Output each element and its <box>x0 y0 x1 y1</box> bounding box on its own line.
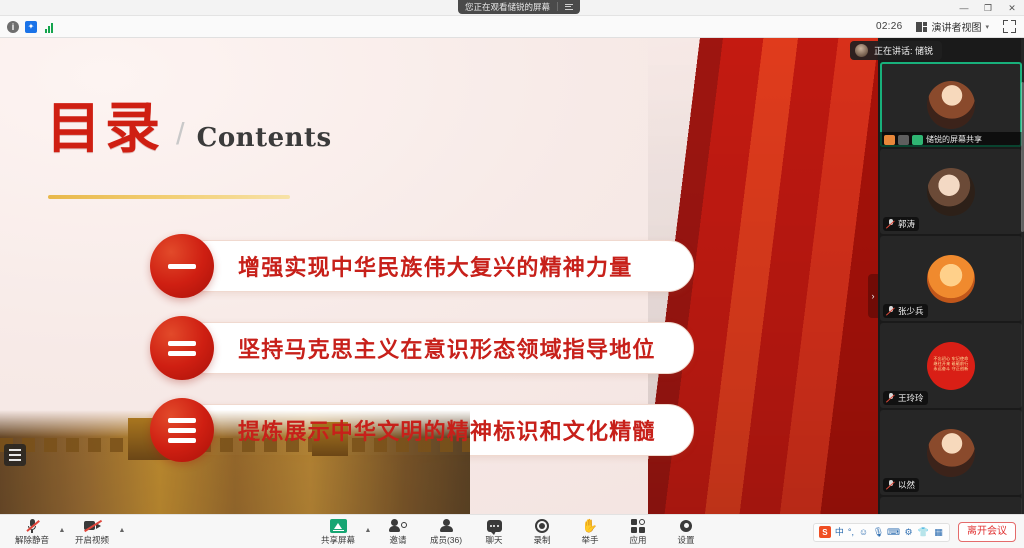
share-status-text: 您正在观看储锐的屏幕 <box>465 1 550 13</box>
participant-tile[interactable] <box>880 497 1022 514</box>
emoji-icon[interactable]: ☺ <box>858 527 869 538</box>
avatar <box>927 429 975 477</box>
participant-name-badge: 以然 <box>883 478 919 492</box>
speaking-toast: 正在讲话: 储锐 <box>850 41 942 60</box>
ime-mode-button[interactable]: 中 <box>835 528 844 537</box>
presentation-slide: 目录 / Contents 增强实现中华民族伟大复兴的精神力量 坚持马克思主义在… <box>0 38 878 514</box>
participant-name: 以然 <box>898 479 915 491</box>
item-label: 增强实现中华民族伟大复兴的精神力量 <box>238 250 632 282</box>
apps-label: 应用 <box>629 534 646 546</box>
host-badge-icon <box>884 135 895 145</box>
list-item: 坚持马克思主义在意识形态领域指导地位 <box>150 316 656 380</box>
chat-icon <box>487 518 502 533</box>
mic-muted-icon <box>26 518 39 533</box>
item-label: 提炼展示中华文明的精神标识和文化精髓 <box>238 414 656 446</box>
apps-icon <box>631 518 645 533</box>
item-number-badge <box>150 234 214 298</box>
view-mode-button[interactable]: 演讲者视图 ▾ <box>912 17 993 36</box>
participant-tile[interactable]: 郭涛 <box>880 149 1022 234</box>
invite-button[interactable]: 邀请 <box>374 515 422 548</box>
chevron-down-icon: ▾ <box>985 23 989 31</box>
share-tile-label: 储锐的屏幕共享 <box>926 134 982 145</box>
list-item: 增强实现中华民族伟大复兴的精神力量 <box>150 234 656 298</box>
participant-name-badge: 张少兵 <box>883 304 928 318</box>
participant-tile[interactable]: 张少兵 <box>880 236 1022 321</box>
signal-icon[interactable] <box>43 21 55 33</box>
item-number-badge <box>150 398 214 462</box>
settings-button[interactable]: 设置 <box>662 515 710 548</box>
slide-title: 目录 / Contents <box>46 100 332 155</box>
raise-hand-icon: ✋ <box>582 518 598 533</box>
raise-hand-button[interactable]: ✋ 举手 <box>566 515 614 548</box>
window-controls: — ❐ ✕ <box>952 0 1024 16</box>
meeting-window: 您正在观看储锐的屏幕 — ❐ ✕ i ✦ 02:26 演讲者视图 ▾ <box>0 0 1024 548</box>
leave-meeting-button[interactable]: 离开会议 <box>958 522 1016 542</box>
item-number-badge <box>150 316 214 380</box>
participants-panel: 储锐的屏幕共享 郭涛 张少兵 不忘初心 牢记使命 继往开来 砥砺前行 永远奋斗 … <box>878 38 1024 514</box>
invite-label: 邀请 <box>389 534 406 546</box>
settings-label: 设置 <box>677 534 694 546</box>
share-screen-icon <box>330 518 347 533</box>
participant-name: 郭涛 <box>898 218 915 230</box>
participant-name-badge: 郭涛 <box>883 217 919 231</box>
topbar-status-icons: i ✦ <box>0 21 55 33</box>
mic-active-icon <box>912 135 923 145</box>
gear-icon <box>679 518 693 533</box>
share-status-banner[interactable]: 您正在观看储锐的屏幕 <box>458 0 580 14</box>
unmute-label: 解除静音 <box>15 534 49 546</box>
avatar <box>927 255 975 303</box>
info-icon[interactable]: i <box>7 21 19 33</box>
skin-icon[interactable]: 👕 <box>918 527 929 538</box>
participants-label: 成员(36) <box>430 534 462 546</box>
chat-label: 聊天 <box>485 534 502 546</box>
meeting-topbar: i ✦ 02:26 演讲者视图 ▾ <box>0 16 1024 38</box>
mic-muted-icon <box>886 480 895 490</box>
maximize-button[interactable]: ❐ <box>976 0 1000 16</box>
keyboard-icon[interactable]: ⌨ <box>888 527 899 538</box>
participant-name: 王玲玲 <box>898 392 924 404</box>
camera-off-icon <box>84 518 101 533</box>
slide-title-underline <box>48 195 290 199</box>
shield-icon[interactable]: ✦ <box>25 21 37 33</box>
share-screen-label: 共享屏幕 <box>321 534 355 546</box>
start-video-label: 开启视频 <box>75 534 109 546</box>
panel-collapse-button[interactable]: › <box>868 274 878 318</box>
topbar-right-group: 02:26 演讲者视图 ▾ <box>876 17 1024 36</box>
mic-muted-icon <box>886 393 895 403</box>
avatar <box>927 81 975 129</box>
start-video-button[interactable]: 开启视频 <box>68 515 116 548</box>
mic-muted-icon <box>886 219 895 229</box>
avatar: 不忘初心 牢记使命 继往开来 砥砺前行 永远奋斗 守正创新 <box>927 342 975 390</box>
unmute-button[interactable]: 解除静音 <box>8 515 56 548</box>
ime-punctuation-button[interactable]: °, <box>848 528 854 537</box>
window-titlebar: 您正在观看储锐的屏幕 — ❐ ✕ <box>0 0 1024 16</box>
ime-toolbar[interactable]: S 中 °, ☺ 🎙 ⌨ ⚙ 👕 ▦ <box>813 523 950 542</box>
voice-icon[interactable]: 🎙 <box>873 527 884 538</box>
toolbox-icon[interactable]: ⚙ <box>903 527 914 538</box>
toolbar-left-group: 解除静音 ▲ 开启视频 ▲ <box>8 515 128 548</box>
annotation-menu-icon[interactable] <box>4 444 26 466</box>
participant-tile[interactable]: 以然 <box>880 410 1022 495</box>
record-icon <box>535 518 549 533</box>
invite-icon <box>390 518 407 533</box>
share-options-chevron-icon[interactable]: ▲ <box>362 515 374 548</box>
record-button[interactable]: 录制 <box>518 515 566 548</box>
share-menu-icon[interactable] <box>565 4 573 10</box>
apps-button[interactable]: 应用 <box>614 515 662 548</box>
participants-button[interactable]: 成员(36) <box>422 515 470 548</box>
slide-title-slash: / <box>176 116 185 155</box>
avatar-text: 不忘初心 牢记使命 继往开来 砥砺前行 永远奋斗 守正创新 <box>927 342 975 371</box>
toolbar-center-group: 共享屏幕 ▲ 邀请 成员(36) 聊天 <box>314 515 710 548</box>
pill-divider <box>557 2 558 11</box>
participant-tile[interactable]: 不忘初心 牢记使命 继往开来 砥砺前行 永远奋斗 守正创新 王玲玲 <box>880 323 1022 408</box>
meeting-timer: 02:26 <box>876 21 903 32</box>
toolbar-right-group: S 中 °, ☺ 🎙 ⌨ ⚙ 👕 ▦ 离开会议 <box>813 515 1016 548</box>
item-label: 坚持马克思主义在意识形态领域指导地位 <box>238 332 656 364</box>
chat-button[interactable]: 聊天 <box>470 515 518 548</box>
participant-name-badge: 王玲玲 <box>883 391 928 405</box>
record-label: 录制 <box>533 534 550 546</box>
meeting-toolbar: 解除静音 ▲ 开启视频 ▲ 共享屏幕 ▲ <box>0 514 1024 548</box>
minimize-button[interactable]: — <box>952 0 976 16</box>
audio-options-chevron-icon[interactable]: ▲ <box>56 515 68 548</box>
screen-share-icon <box>898 135 909 145</box>
shared-screen-stage: 目录 / Contents 增强实现中华民族伟大复兴的精神力量 坚持马克思主义在… <box>0 38 878 514</box>
close-button[interactable]: ✕ <box>1000 0 1024 16</box>
avatar <box>927 168 975 216</box>
fullscreen-icon[interactable] <box>1003 20 1016 33</box>
participants-icon <box>439 518 453 533</box>
share-screen-button[interactable]: 共享屏幕 <box>314 515 362 548</box>
raise-hand-label: 举手 <box>581 534 598 546</box>
speaking-toast-label: 正在讲话: 储锐 <box>874 44 933 57</box>
slide-title-en: Contents <box>197 123 332 155</box>
video-options-chevron-icon[interactable]: ▲ <box>116 515 128 548</box>
sogou-logo-icon[interactable]: S <box>819 526 831 538</box>
more-icon[interactable]: ▦ <box>933 527 944 538</box>
view-mode-label: 演讲者视图 <box>931 19 981 34</box>
participant-name: 张少兵 <box>898 305 924 317</box>
share-tile-strip: 储锐的屏幕共享 <box>880 132 1022 147</box>
slide-title-cn: 目录 <box>46 100 164 155</box>
mic-muted-icon <box>886 306 895 316</box>
participant-tile-share[interactable]: 储锐的屏幕共享 <box>880 62 1022 147</box>
avatar <box>855 44 868 57</box>
speaker-view-icon <box>916 22 927 32</box>
